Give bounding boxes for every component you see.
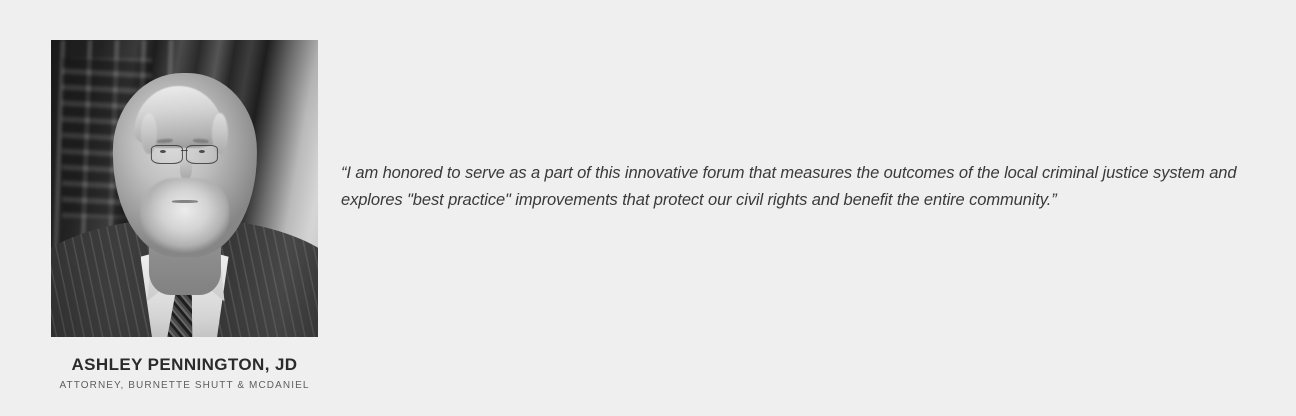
photo-vignette <box>51 40 318 337</box>
quote-text: “I am honored to serve as a part of this… <box>341 160 1241 214</box>
person-block: ASHLEY PENNINGTON, JD ATTORNEY, BURNETTE… <box>51 40 318 391</box>
person-name: ASHLEY PENNINGTON, JD <box>51 356 318 375</box>
testimonial-section: ASHLEY PENNINGTON, JD ATTORNEY, BURNETTE… <box>0 0 1296 416</box>
person-role: ATTORNEY, BURNETTE SHUTT & MCDANIEL <box>51 380 318 391</box>
portrait-photo <box>51 40 318 337</box>
quote-block: “I am honored to serve as a part of this… <box>341 160 1241 214</box>
